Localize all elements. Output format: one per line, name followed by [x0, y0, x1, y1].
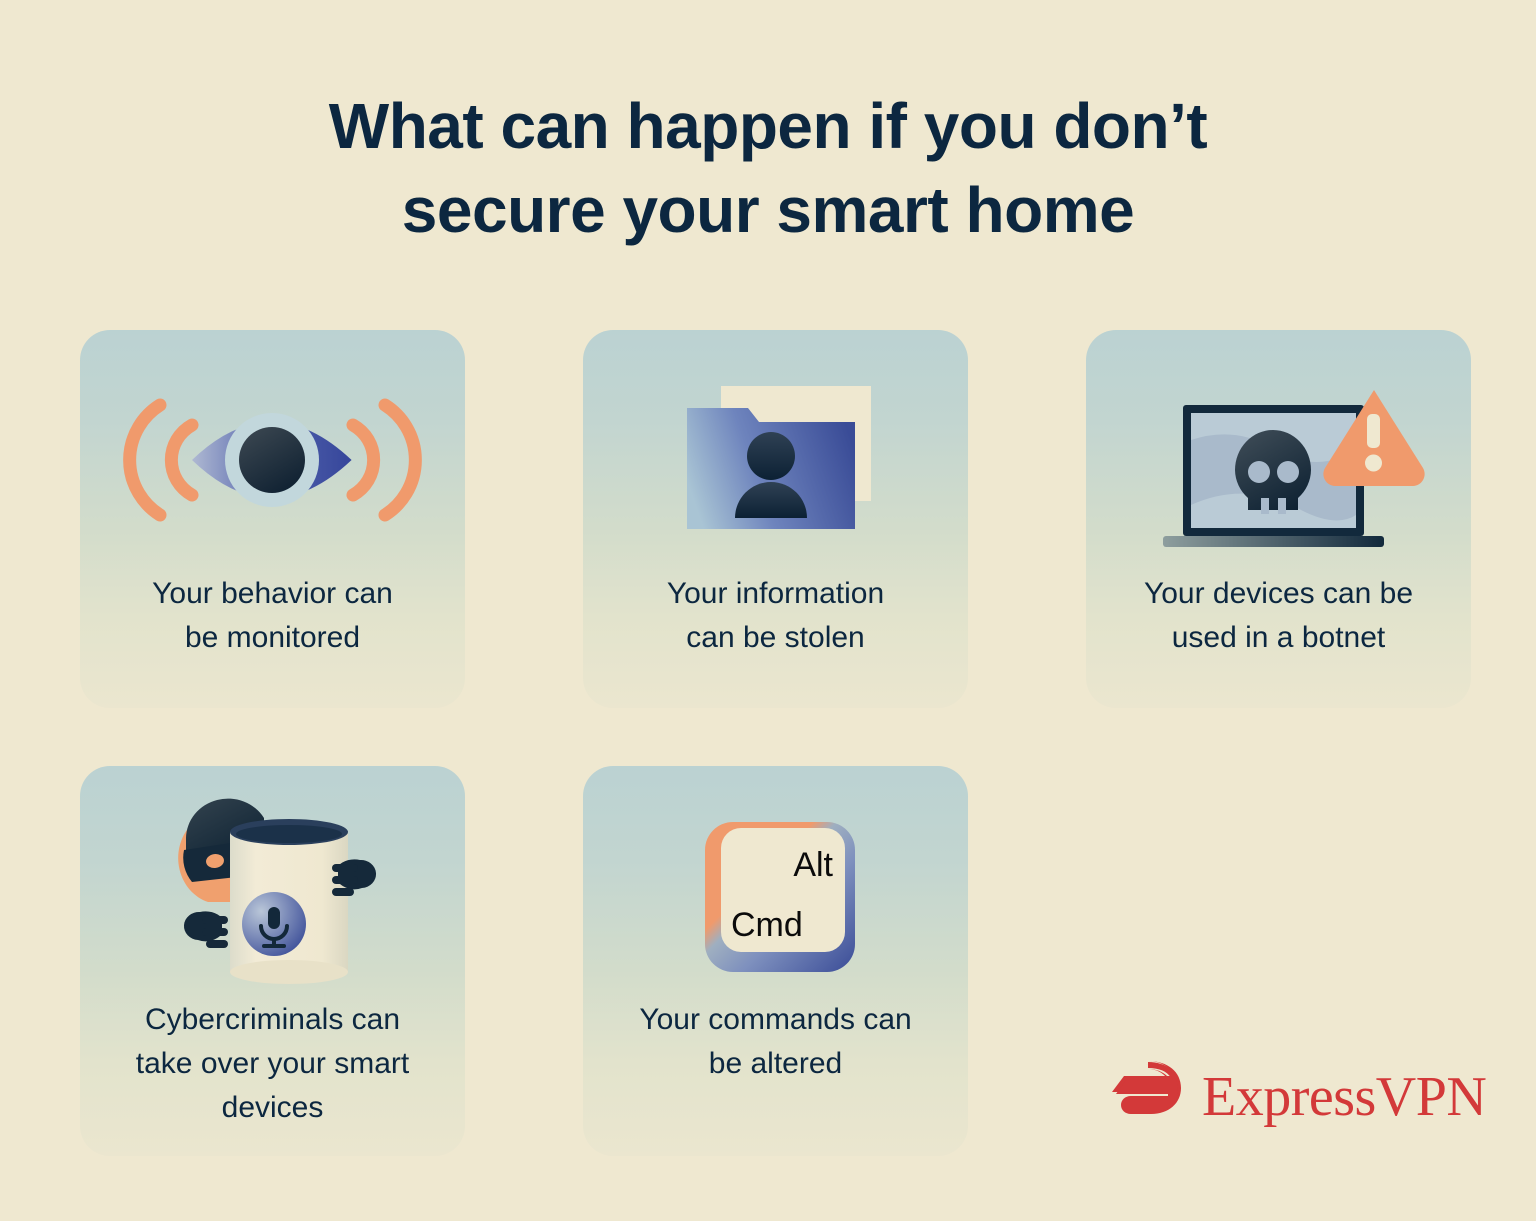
laptop-malware-skull-icon	[1086, 330, 1471, 570]
expressvpn-logo: ExpressVPN	[1108, 1058, 1486, 1136]
key-label-cmd: Cmd	[731, 906, 803, 944]
key-label-alt: Alt	[793, 846, 833, 884]
eye-surveillance-icon	[80, 330, 465, 570]
card-caption: Your devices can be used in a botnet	[1104, 572, 1453, 660]
expressvpn-logo-text: ExpressVPN	[1202, 1069, 1486, 1125]
cards-grid: Your behavior can be monitored	[80, 330, 1456, 1156]
card-behavior-monitored: Your behavior can be monitored	[80, 330, 465, 708]
expressvpn-e-mark-icon	[1108, 1058, 1184, 1136]
card-caption: Your commands can be altered	[601, 998, 950, 1086]
infographic-page: What can happen if you don’t secure your…	[0, 0, 1536, 1221]
folder-personal-data-icon	[583, 330, 968, 570]
card-information-stolen: Your information can be stolen	[583, 330, 968, 708]
keyboard-key-icon: Alt Cmd	[583, 766, 968, 1006]
card-caption: Your information can be stolen	[601, 572, 950, 660]
card-caption: Your behavior can be monitored	[98, 572, 447, 660]
page-title: What can happen if you don’t secure your…	[0, 84, 1536, 252]
card-devices-botnet: Your devices can be used in a botnet	[1086, 330, 1471, 708]
card-commands-altered: Alt Cmd Your commands can be altered	[583, 766, 968, 1156]
card-smart-device-takeover: Cybercriminals can take over your smart …	[80, 766, 465, 1156]
card-caption: Cybercriminals can take over your smart …	[98, 998, 447, 1130]
thief-smart-speaker-icon	[80, 766, 465, 1006]
